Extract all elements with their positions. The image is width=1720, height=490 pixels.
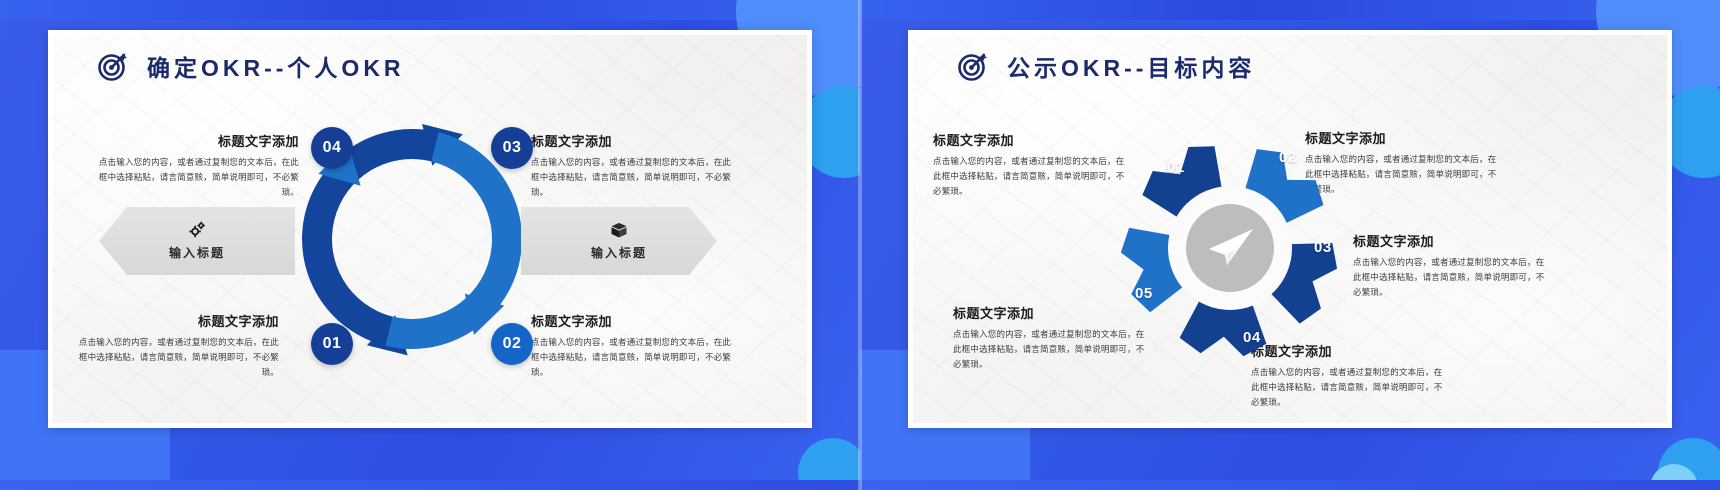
gears-icon bbox=[188, 221, 206, 239]
target-icon bbox=[97, 50, 129, 82]
slide-2-header: 公示OKR--目标内容 bbox=[957, 49, 1255, 83]
five-petal-pinwheel-graphic: 01 02 03 04 05 bbox=[1095, 113, 1365, 383]
page-title: 公示OKR--目标内容 bbox=[1007, 49, 1255, 83]
block-heading: 标题文字添加 bbox=[91, 131, 299, 150]
slide-2-card: 公示OKR--目标内容 标题文字添加 点击输入您的内容，或者通过复制您的文本后，… bbox=[908, 30, 1672, 428]
block-heading: 标题文字添加 bbox=[71, 311, 279, 330]
text-block-02: 标题文字添加 点击输入您的内容，或者通过复制您的文本后，在此框中选择粘贴，请言简… bbox=[531, 311, 739, 380]
text-block-01: 标题文字添加 点击输入您的内容，或者通过复制您的文本后，在此框中选择粘贴，请言简… bbox=[71, 311, 279, 380]
target-icon bbox=[957, 50, 989, 82]
badge-02[interactable]: 02 bbox=[491, 323, 533, 365]
banner-right[interactable]: 输入标题 bbox=[521, 207, 717, 275]
block-body: 点击输入您的内容，或者通过复制您的文本后，在此框中选择粘贴，请言简意赅，简单说明… bbox=[531, 155, 739, 200]
bottom-stripe bbox=[860, 480, 1720, 490]
block-body: 点击输入您的内容，或者通过复制您的文本后，在此框中选择粘贴，请言简意赅，简单说明… bbox=[1353, 255, 1553, 300]
block-heading: 标题文字添加 bbox=[1353, 231, 1553, 250]
slide-2-content: 标题文字添加 点击输入您的内容，或者通过复制您的文本后，在此框中选择粘贴，请言简… bbox=[913, 35, 1667, 423]
badge-01[interactable]: 01 bbox=[311, 323, 353, 365]
page-title: 确定OKR--个人OKR bbox=[147, 49, 405, 83]
slide-1-header: 确定OKR--个人OKR bbox=[97, 49, 405, 83]
block-heading: 标题文字添加 bbox=[531, 131, 739, 150]
bottom-stripe bbox=[0, 480, 860, 490]
banner-left[interactable]: 输入标题 bbox=[99, 207, 295, 275]
box-icon bbox=[610, 221, 628, 239]
badge-03[interactable]: 03 bbox=[491, 127, 533, 169]
slide-1-content: 标题文字添加 点击输入您的内容，或者通过复制您的文本后，在此框中选择粘贴，请言简… bbox=[53, 35, 807, 423]
top-band bbox=[0, 0, 860, 20]
text-block-04: 标题文字添加 点击输入您的内容，或者通过复制您的文本后，在此框中选择粘贴，请言简… bbox=[91, 131, 299, 200]
text-block-03: 标题文字添加 点击输入您的内容，或者通过复制您的文本后，在此框中选择粘贴，请言简… bbox=[1353, 231, 1553, 300]
slide-2: 公示OKR--目标内容 标题文字添加 点击输入您的内容，或者通过复制您的文本后，… bbox=[860, 0, 1720, 490]
badge-04[interactable]: 04 bbox=[311, 127, 353, 169]
block-heading: 标题文字添加 bbox=[531, 311, 739, 330]
block-body: 点击输入您的内容，或者通过复制您的文本后，在此框中选择粘贴，请言简意赅，简单说明… bbox=[71, 335, 279, 380]
text-block-03: 标题文字添加 点击输入您的内容，或者通过复制您的文本后，在此框中选择粘贴，请言简… bbox=[531, 131, 739, 200]
block-body: 点击输入您的内容，或者通过复制您的文本后，在此框中选择粘贴，请言简意赅，简单说明… bbox=[91, 155, 299, 200]
banner-label: 输入标题 bbox=[591, 244, 647, 261]
block-body: 点击输入您的内容，或者通过复制您的文本后，在此框中选择粘贴，请言简意赅，简单说明… bbox=[531, 335, 739, 380]
slide-1: 确定OKR--个人OKR 标题文字添加 点击输入您的内容，或者通过复制您的文本后… bbox=[0, 0, 860, 490]
slide-divider bbox=[858, 0, 862, 490]
slide-1-card: 确定OKR--个人OKR 标题文字添加 点击输入您的内容，或者通过复制您的文本后… bbox=[48, 30, 812, 428]
banner-label: 输入标题 bbox=[169, 244, 225, 261]
slide-pair-stage: 确定OKR--个人OKR 标题文字添加 点击输入您的内容，或者通过复制您的文本后… bbox=[0, 0, 1720, 490]
top-band bbox=[860, 0, 1720, 20]
